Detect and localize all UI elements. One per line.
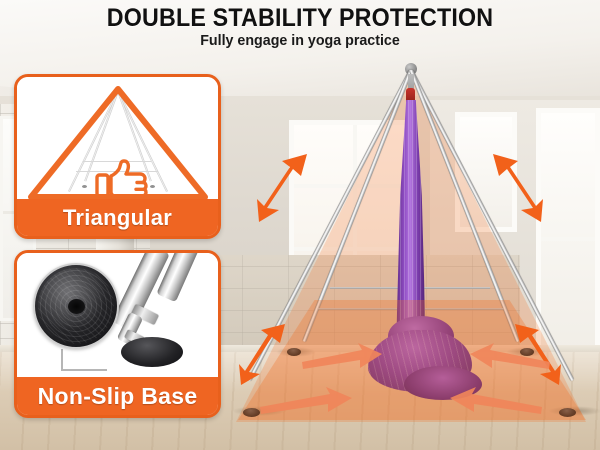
rubber-center-hole [68,299,85,314]
arrow-inward-left-upper [300,342,384,372]
arrow-outward-upper-left [255,152,319,224]
arrow-inward-right-upper [468,342,552,372]
header: DOUBLE STABILITY PROTECTION Fully engage… [0,0,600,50]
product-feature-image: DOUBLE STABILITY PROTECTION Fully engage… [0,0,600,450]
feature-card-label-base: Non-Slip Base [17,377,218,415]
feature-card-non-slip-base[interactable]: Non-Slip Base [14,250,221,418]
arrow-outward-upper-right [481,152,545,224]
window-right-tall [536,108,600,356]
arrow-inward-right-lower [448,386,544,416]
thumbs-up-icon [95,159,149,204]
arrow-outward-lower-left [237,322,295,386]
arrow-inward-left-lower [258,386,354,416]
page-title: DOUBLE STABILITY PROTECTION [21,0,579,31]
feature-card-label-triangular: Triangular Structure [17,199,218,236]
window-mullion-horizontal [541,237,595,241]
magnifier-leader-line-vertical [61,349,63,371]
magnifier-detail-icon [33,263,119,349]
feature-card-image-base [17,253,218,383]
feature-card-image-triangular [17,77,218,205]
feature-card-triangular-structure[interactable]: Triangular Structure [14,74,221,239]
magnifier-leader-line-horizontal [61,369,107,371]
rubber-foot-closeup [121,337,183,367]
page-subtitle: Fully engage in yoga practice [15,32,585,50]
